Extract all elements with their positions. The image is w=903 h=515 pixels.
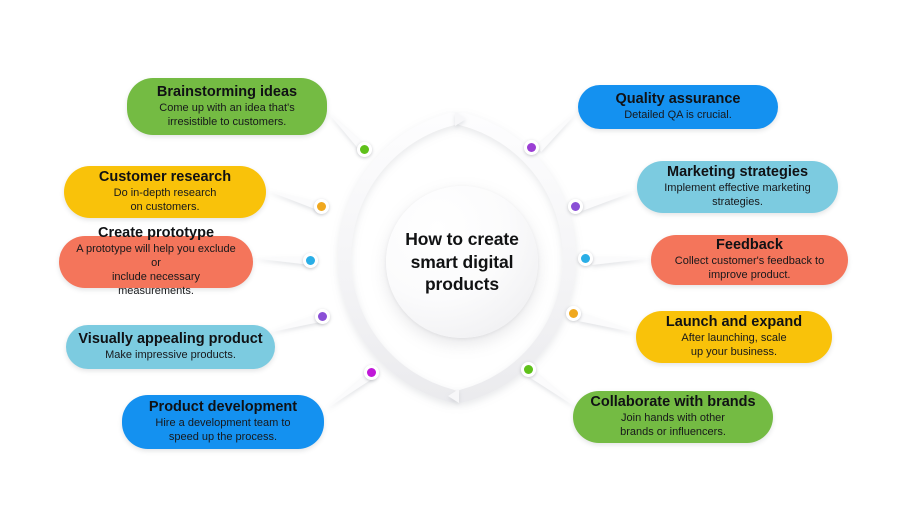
node-dot-product-development[interactable] <box>364 365 379 380</box>
center-hub: How to create smart digital products <box>386 186 538 338</box>
card-description: Join hands with other brands or influenc… <box>620 412 726 440</box>
card-title: Create prototype <box>98 225 214 242</box>
card-title: Product development <box>149 399 297 416</box>
dot-fill <box>360 145 369 154</box>
card-title: Customer research <box>99 169 231 186</box>
connector-marketing-strategies <box>581 190 638 211</box>
connector-feedback <box>592 257 652 265</box>
center-title: How to create smart digital products <box>405 228 518 295</box>
card-title: Launch and expand <box>666 314 802 331</box>
node-dot-visually-appealing-product[interactable] <box>315 309 330 324</box>
card-collaborate-with-brands[interactable]: Collaborate with brands Join hands with … <box>573 391 773 443</box>
dot-fill <box>571 202 580 211</box>
card-description: Hire a development team to speed up the … <box>155 417 290 445</box>
card-visually-appealing-product[interactable]: Visually appealing product Make impressi… <box>66 325 275 369</box>
dot-fill <box>524 365 533 374</box>
node-dot-collaborate-with-brands[interactable] <box>521 362 536 377</box>
card-description: Detailed QA is crucial. <box>624 109 732 123</box>
card-description: A prototype will help you exclude or inc… <box>73 243 239 298</box>
card-description: Collect customer's feedback to improve p… <box>675 255 824 283</box>
connector-customer-research <box>266 190 321 211</box>
card-description: Come up with an idea that's irresistible… <box>159 102 294 130</box>
diagram-canvas: How to create smart digital products Bra… <box>0 0 903 515</box>
card-description: After launching, scale up your business. <box>681 332 786 360</box>
card-description: Make impressive products. <box>105 349 236 363</box>
card-description: Do in-depth research on customers. <box>114 187 217 215</box>
card-title: Quality assurance <box>616 91 741 108</box>
connector-launch-and-expand <box>578 313 638 333</box>
card-launch-and-expand[interactable]: Launch and expand After launching, scale… <box>636 311 832 363</box>
card-title: Visually appealing product <box>78 331 262 348</box>
node-dot-launch-and-expand[interactable] <box>566 306 581 321</box>
connector-collaborate-with-brands <box>529 371 579 409</box>
node-dot-quality-assurance[interactable] <box>524 140 539 155</box>
node-dot-customer-research[interactable] <box>314 199 329 214</box>
card-feedback[interactable]: Feedback Collect customer's feedback to … <box>651 235 848 285</box>
card-title: Collaborate with brands <box>590 394 755 411</box>
card-brainstorming-ideas[interactable]: Brainstorming ideas Come up with an idea… <box>127 78 327 135</box>
node-dot-create-prototype[interactable] <box>303 253 318 268</box>
card-customer-research[interactable]: Customer research Do in-depth research o… <box>64 166 266 218</box>
dot-fill <box>317 202 326 211</box>
card-create-prototype[interactable]: Create prototype A prototype will help y… <box>59 236 253 288</box>
node-dot-brainstorming-ideas[interactable] <box>357 142 372 157</box>
dot-fill <box>569 309 578 318</box>
card-title: Brainstorming ideas <box>157 84 297 101</box>
dot-fill <box>527 143 536 152</box>
dot-fill <box>367 368 376 377</box>
card-product-development[interactable]: Product development Hire a development t… <box>122 395 324 449</box>
dot-fill <box>318 312 327 321</box>
dot-fill <box>581 254 590 263</box>
card-quality-assurance[interactable]: Quality assurance Detailed QA is crucial… <box>578 85 778 129</box>
dot-fill <box>306 256 315 265</box>
card-description: Implement effective marketing strategies… <box>664 182 811 210</box>
card-marketing-strategies[interactable]: Marketing strategies Implement effective… <box>637 161 838 213</box>
card-title: Marketing strategies <box>667 164 808 181</box>
node-dot-feedback[interactable] <box>578 251 593 266</box>
node-dot-marketing-strategies[interactable] <box>568 199 583 214</box>
connector-quality-assurance <box>537 110 579 152</box>
card-title: Feedback <box>716 237 783 254</box>
